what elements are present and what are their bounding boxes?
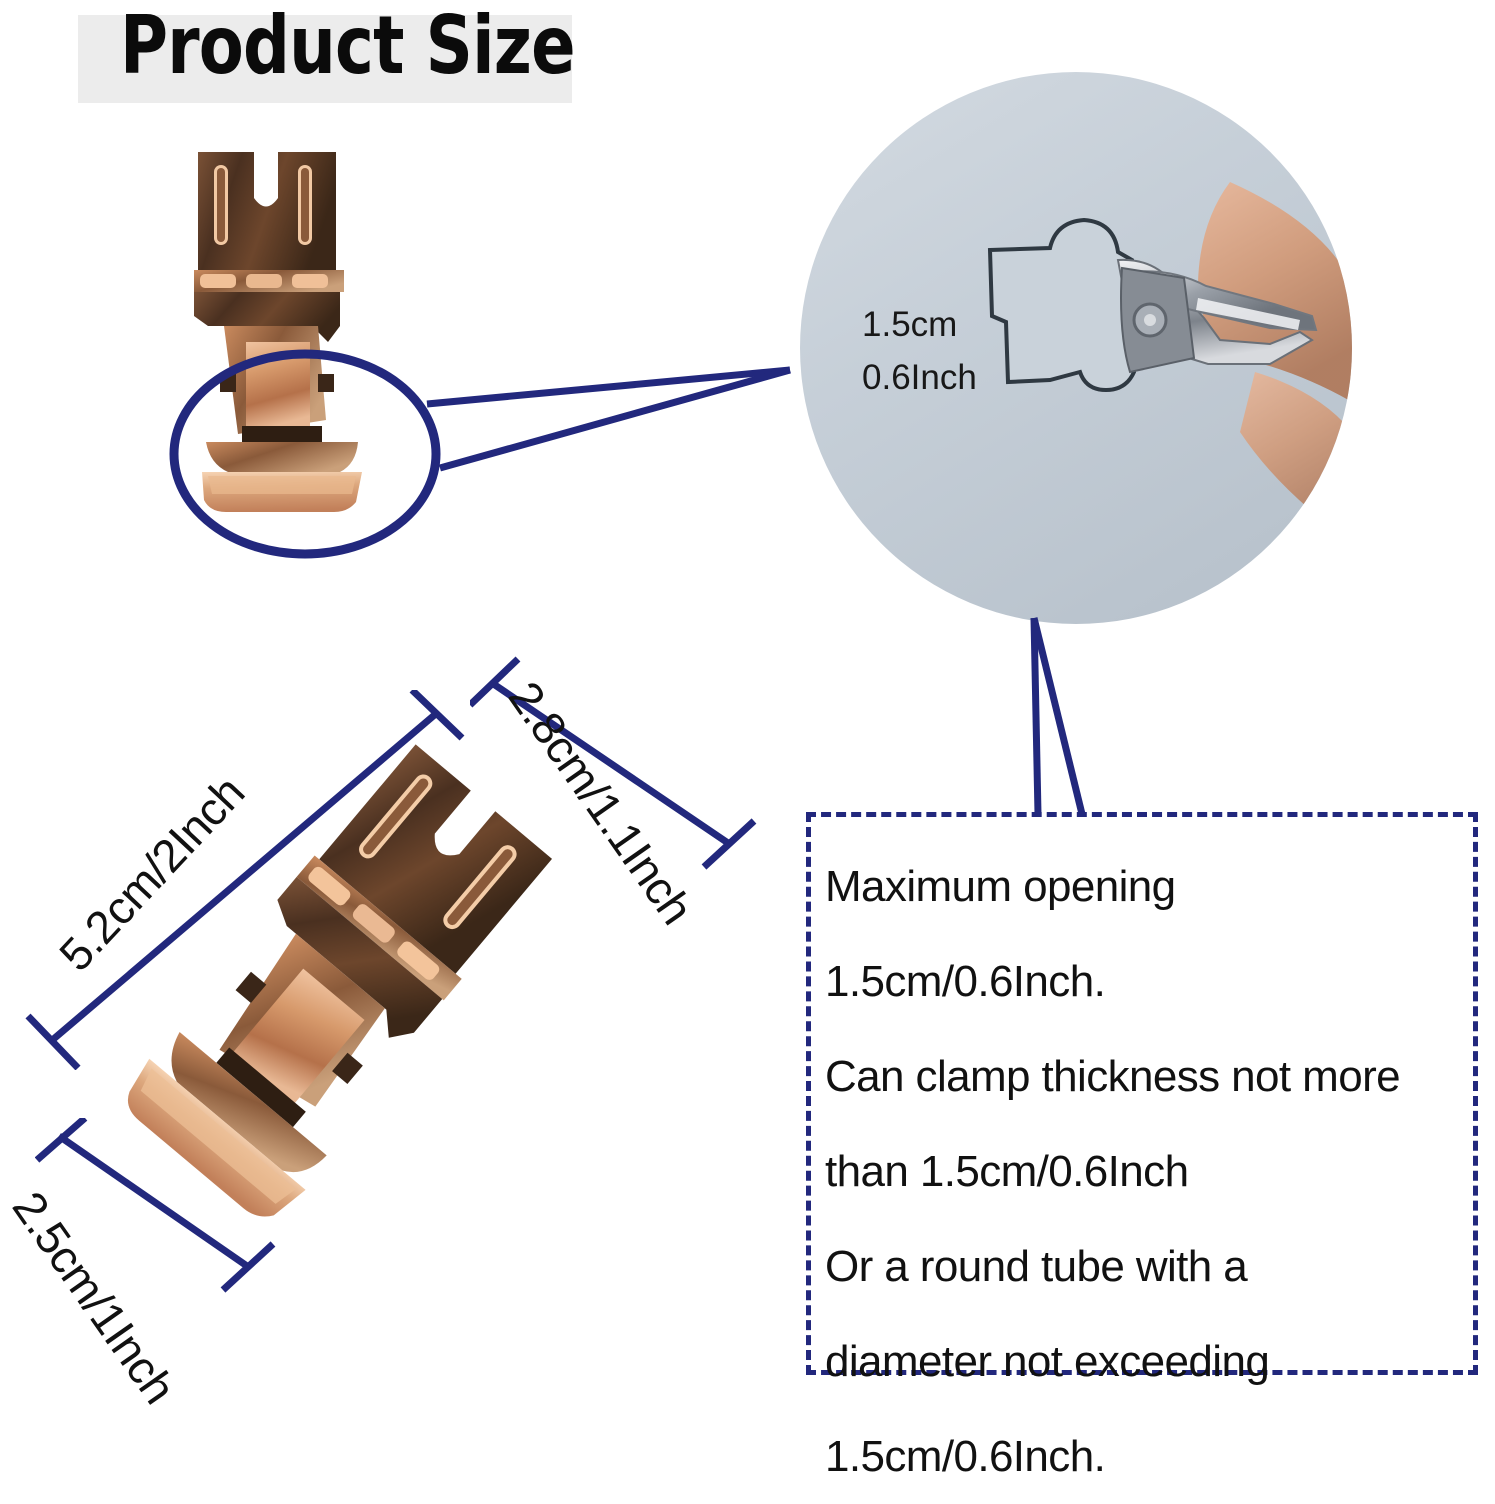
callout-line: Can clamp thickness not more	[825, 1029, 1481, 1124]
callout-line: 1.5cm/0.6Inch.	[825, 934, 1481, 1029]
specifications-list: Maximum opening 1.5cm/0.6Inch. Can clamp…	[825, 839, 1481, 1504]
inset-caption: 1.5cm 0.6Inch	[862, 298, 977, 404]
callout-line: Or a round tube with a	[825, 1219, 1481, 1314]
callout-line: 1.5cm/0.6Inch.	[825, 1409, 1481, 1504]
page-title: Product Size	[120, 0, 575, 94]
inset-caption-line-cm: 1.5cm	[862, 298, 977, 351]
callout-leader-lines	[960, 610, 1180, 820]
product-size-infographic: Product Size	[0, 0, 1495, 1397]
specifications-callout-box: Maximum opening 1.5cm/0.6Inch. Can clamp…	[806, 812, 1478, 1375]
inset-caption-line-inch: 0.6Inch	[862, 351, 977, 404]
zoom-leader-lines	[400, 330, 850, 520]
callout-line: diameter not exceeding	[825, 1314, 1481, 1409]
callout-line: Maximum opening	[825, 839, 1481, 934]
dimension-line-length	[20, 690, 490, 1070]
callout-line: than 1.5cm/0.6Inch	[825, 1124, 1481, 1219]
